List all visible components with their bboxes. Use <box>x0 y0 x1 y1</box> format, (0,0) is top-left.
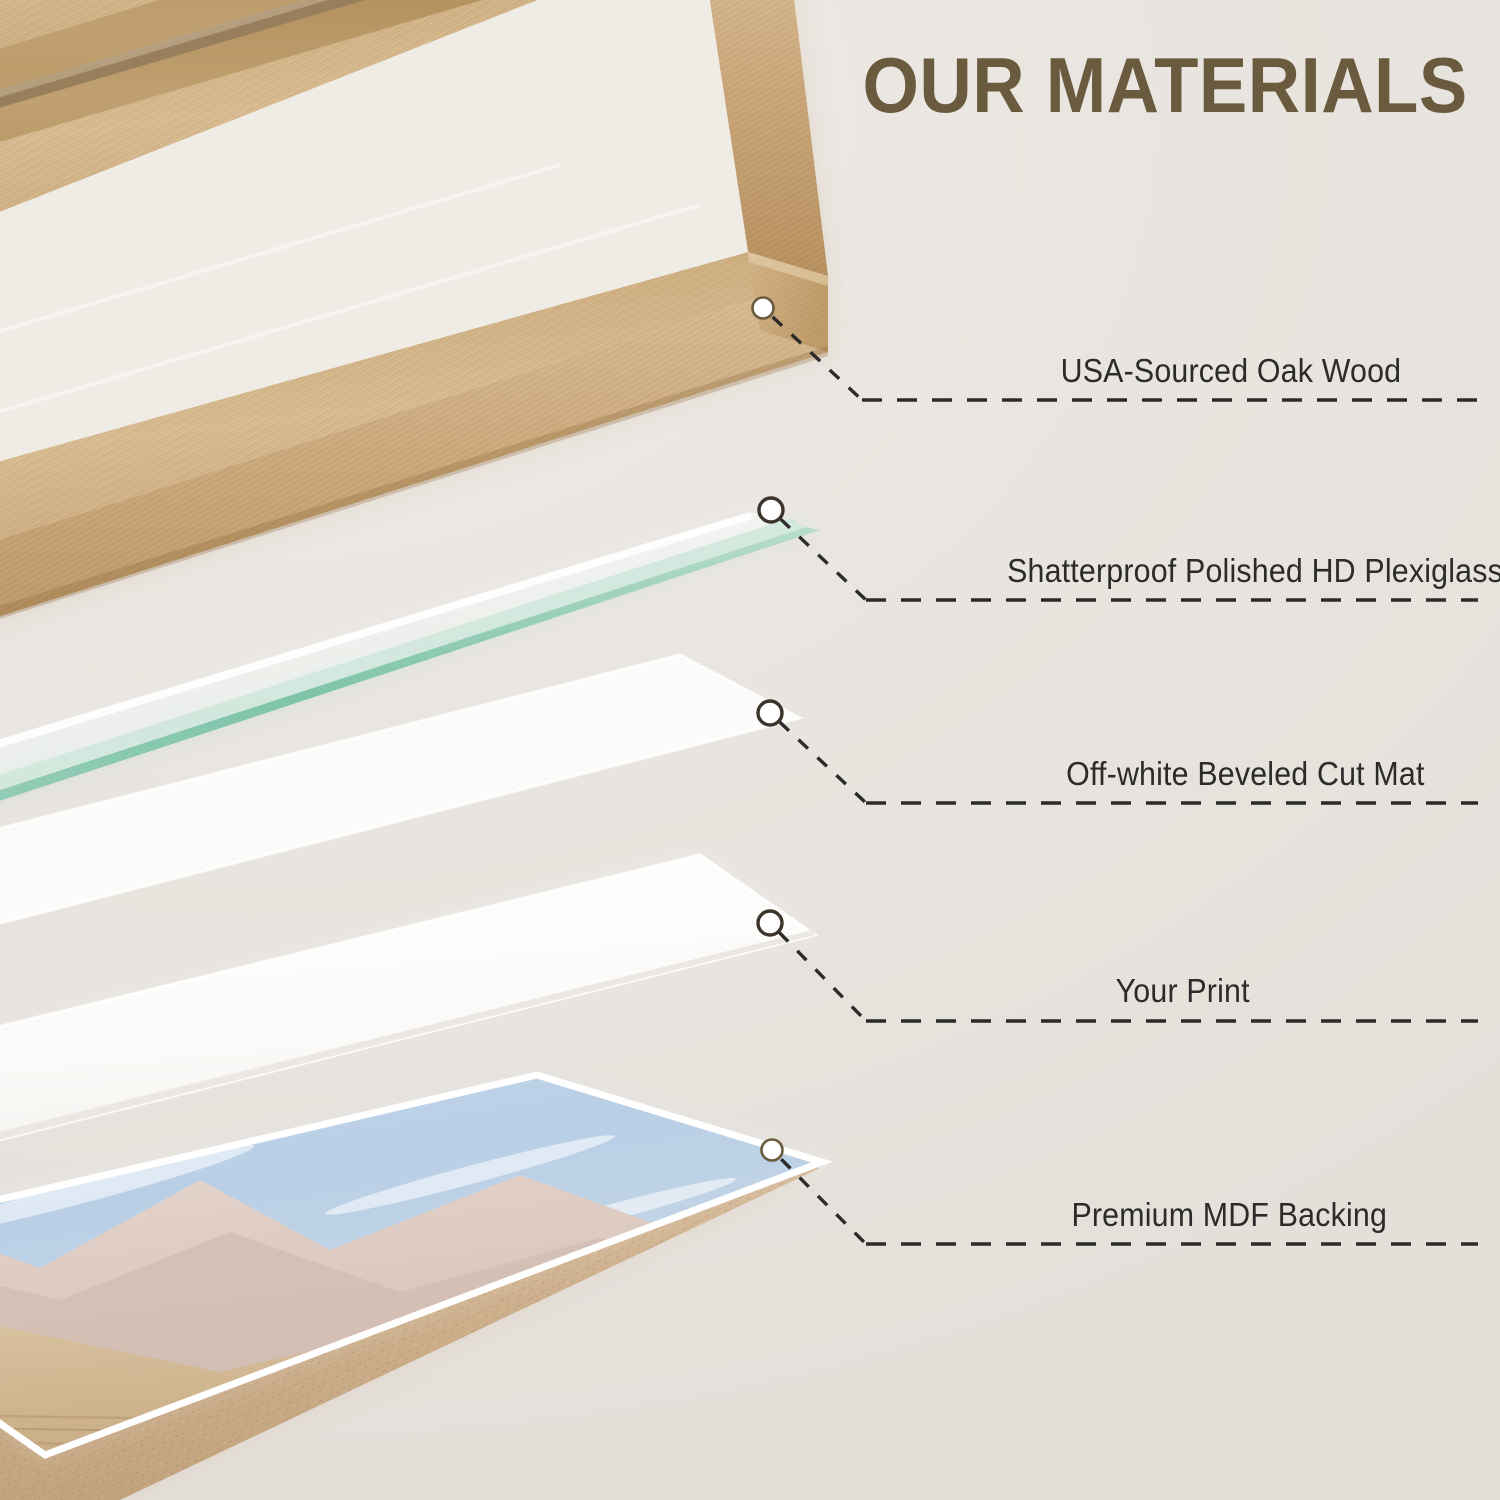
callout-label-cut-mat: Off-white Beveled Cut Mat <box>1066 755 1424 793</box>
callout-marker-dot <box>758 701 782 725</box>
callout-label-your-print: Your Print <box>1116 972 1250 1010</box>
leader-diagonal <box>779 722 866 803</box>
product-exploded-view <box>0 0 1500 1500</box>
callout-label-oak-wood: USA-Sourced Oak Wood <box>1061 352 1402 390</box>
callout-marker-dot <box>758 911 782 935</box>
callout-marker-dot <box>759 498 783 522</box>
leader-diagonal <box>779 932 866 1021</box>
callout-marker-dot <box>762 1140 783 1161</box>
infographic-canvas: OUR MATERIALS USA-Sourced Oak Wood Shatt… <box>0 0 1500 1500</box>
callout-label-mdf-backing: Premium MDF Backing <box>1072 1196 1388 1234</box>
page-title: OUR MATERIALS <box>863 46 1468 124</box>
callout-marker-dot <box>753 298 774 319</box>
callout-label-plexiglass: Shatterproof Polished HD Plexiglass <box>1007 552 1500 590</box>
